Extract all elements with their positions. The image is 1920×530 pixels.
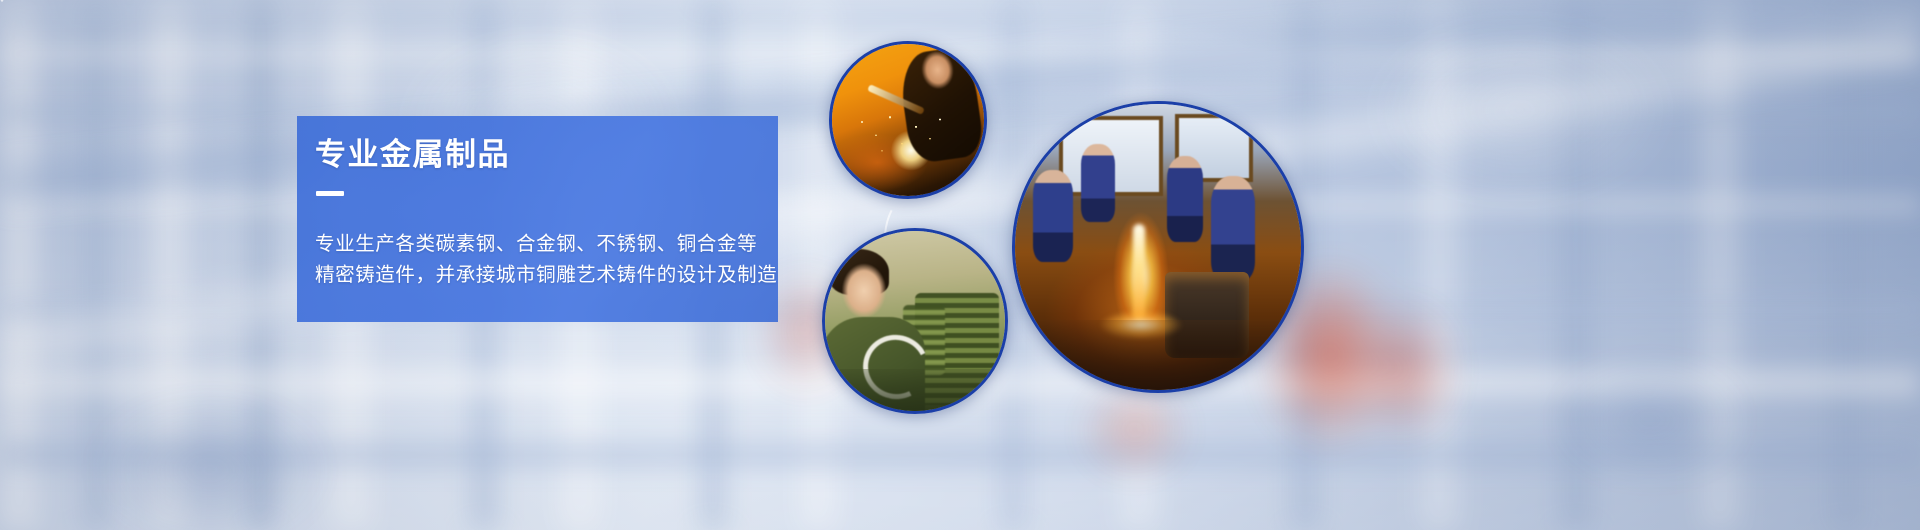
welding-sparks [852,104,952,164]
foundry-floor [1015,320,1301,390]
background-crane-arm [0,0,1920,530]
photo-collage [0,0,1920,530]
worker-hair [829,249,889,295]
background-vignette [0,0,1920,530]
metal-parts-stack-2 [903,305,945,375]
headline-divider [316,191,344,196]
worker-body [822,317,925,414]
molten-metal-stream [1133,224,1145,320]
work-bench [825,369,1005,411]
welder-figure [897,45,986,164]
welding-torch [867,84,925,115]
foundry-window [1059,116,1163,196]
foundry-worker-3 [1167,156,1203,242]
photo-circle-welding [829,41,987,199]
photo-circle-foundry [1012,101,1304,393]
foundry-ladle [1165,272,1249,358]
background-beams [0,0,1920,530]
foundry-worker-4 [1211,176,1255,280]
foundry-photo [1015,104,1301,390]
molten-metal-pool [1099,310,1183,340]
metal-parts-stack [915,293,999,405]
welding-photo [832,44,984,196]
air-hose [855,326,938,407]
hero-banner: 专业金属制品 专业生产各类碳素钢、合金钢、不锈钢、铜合金等 精密铸造件，并承接城… [0,0,1920,530]
decorative-arc-link [868,160,1024,316]
description-line-1: 专业生产各类碳素钢、合金钢、不锈钢、铜合金等 [315,229,767,260]
description-line-2: 精密铸造件，并承接城市铜雕艺术铸件的设计及制造 [315,260,767,291]
text-panel: 专业金属制品 专业生产各类碳素钢、合金钢、不锈钢、铜合金等 精密铸造件，并承接城… [297,116,778,322]
worker-face [837,261,889,323]
photo-circle-assembly [822,228,1008,414]
background-equipment [0,0,1920,530]
foundry-worker-2 [1081,144,1115,222]
background-structures [0,0,1920,530]
foundry-window-2 [1175,114,1253,182]
foundry-worker-1 [1033,170,1073,262]
background-photo [0,0,1920,530]
banner-headline: 专业金属制品 [315,138,510,172]
decorative-arc-top [0,0,4,4]
assembly-photo [825,231,1005,411]
banner-description: 专业生产各类碳素钢、合金钢、不锈钢、铜合金等 精密铸造件，并承接城市铜雕艺术铸件… [315,229,767,291]
